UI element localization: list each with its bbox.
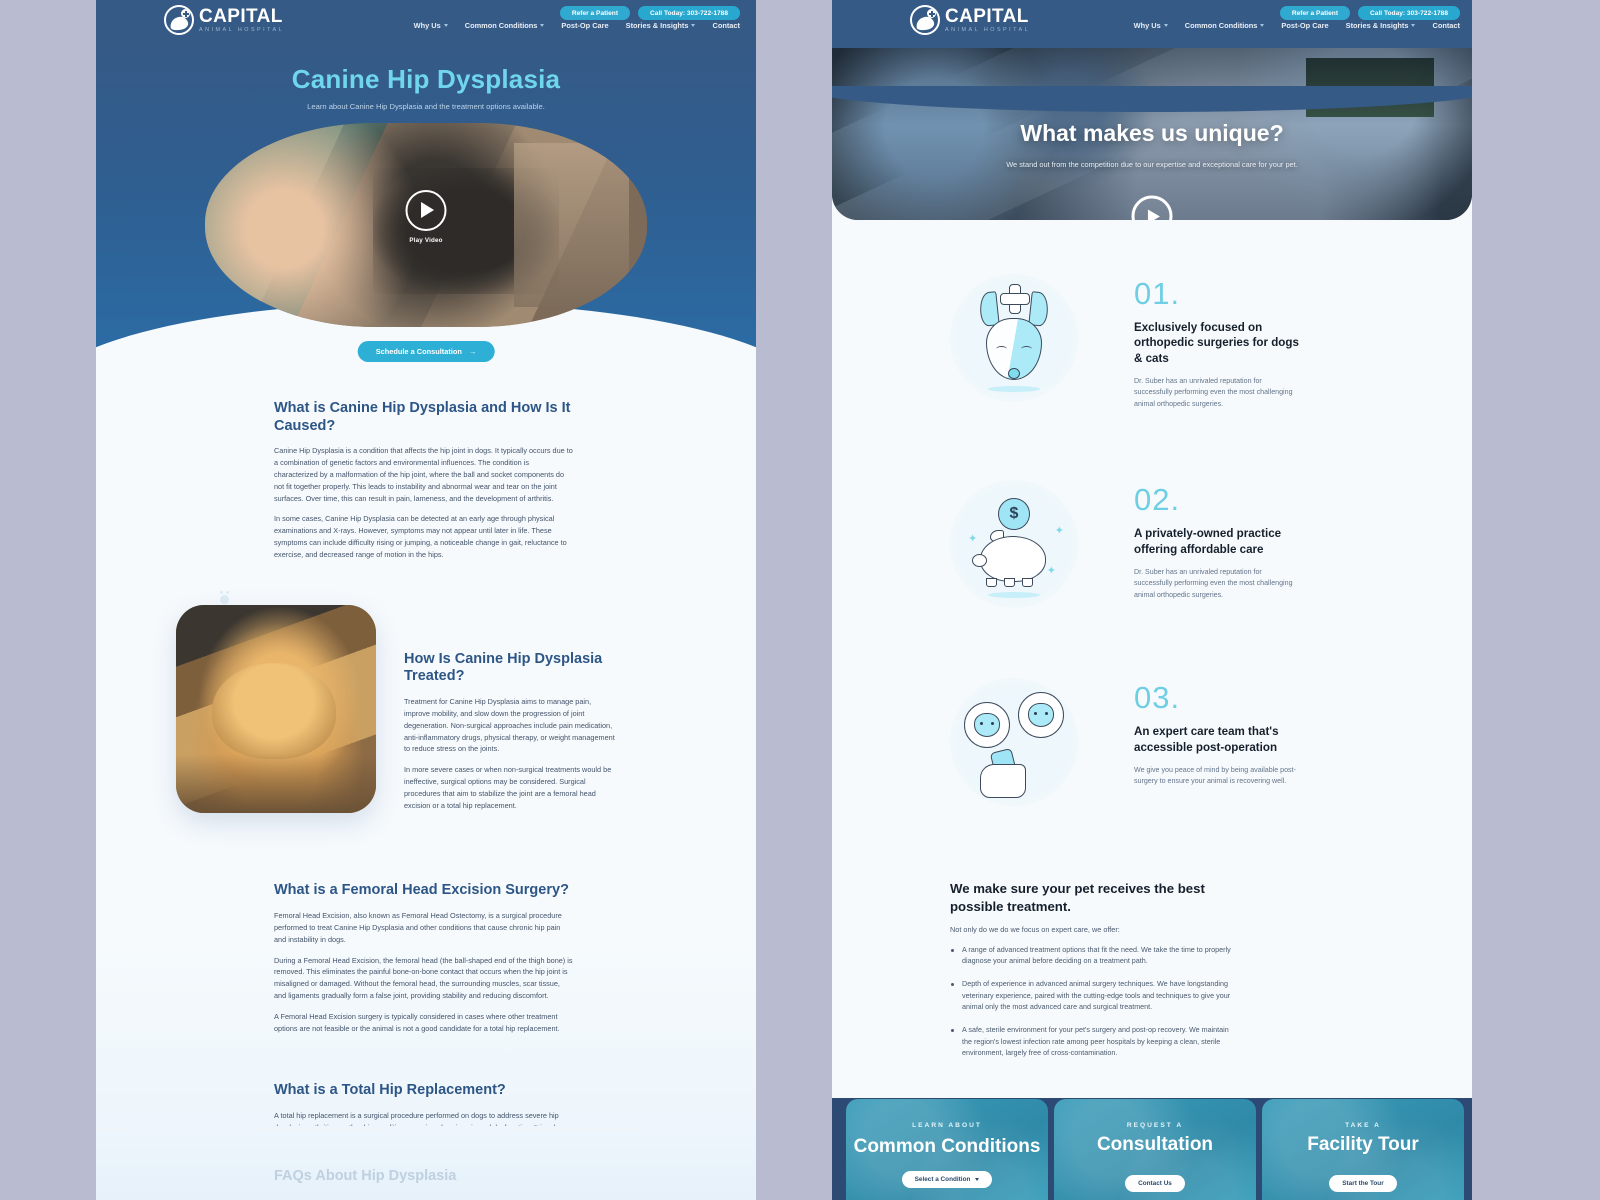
right-features-body: 01. Exclusively focused on orthopedic su… (832, 220, 1472, 1200)
nav-item-common-conditions[interactable]: Common Conditions (465, 21, 545, 30)
dollar-coin-icon: $ (998, 498, 1030, 530)
cta-card-facility-tour[interactable]: TAKE A Facility Tour Start the Tour (1262, 1099, 1464, 1200)
cta-kicker: REQUEST A (1054, 1122, 1256, 1129)
feature-body: Dr. Suber has an unrivaled reputation fo… (1134, 376, 1299, 410)
treatment-bullet: Depth of experience in advanced animal s… (950, 978, 1240, 1013)
left-hero: Canine Hip Dysplasia Learn about Canine … (96, 48, 756, 348)
treatment-heading: We make sure your pet receives the best … (950, 880, 1250, 914)
logo-wordmark: CAPITAL (945, 7, 1030, 26)
cta-card-row: LEARN ABOUT Common Conditions Select a C… (846, 1099, 1464, 1200)
feature-item: $ ✦ ✦ ✦ 02. A privately-owned practice o… (832, 484, 1472, 608)
cta-button-label: Start the Tour (1342, 1180, 1383, 1187)
start-the-tour-button[interactable]: Start the Tour (1329, 1175, 1396, 1192)
section-paragraph: Treatment for Canine Hip Dysplasia aims … (404, 696, 619, 755)
feature-body: We give you peace of mind by being avail… (1134, 765, 1299, 788)
select-a-condition-button[interactable]: Select a Condition (902, 1171, 993, 1188)
chevron-down-icon (1411, 24, 1415, 27)
schedule-consultation-label: Schedule a Consultation (376, 347, 462, 356)
feature-item: 03. An expert care team that's accessibl… (832, 682, 1472, 806)
page-title: Canine Hip Dysplasia (96, 64, 756, 95)
section-what-is-hip-dysplasia: What is Canine Hip Dysplasia and How Is … (274, 400, 574, 561)
dog-bubble-icon (1018, 692, 1064, 738)
nav-item-post-op-care[interactable]: Post-Op Care (1281, 21, 1328, 30)
nav-item-stories-insights[interactable]: Stories & Insights (1346, 21, 1416, 30)
chevron-down-icon (1164, 24, 1168, 27)
cta-title: Facility Tour (1262, 1135, 1464, 1155)
cta-kicker: LEARN ABOUT (846, 1122, 1048, 1129)
cta-button-label: Contact Us (1138, 1180, 1172, 1187)
feature-body: Dr. Suber has an unrivaled reputation fo… (1134, 567, 1299, 601)
section-paragraph: A Femoral Head Excision surgery is typic… (274, 1011, 574, 1035)
nav-item-why-us[interactable]: Why Us (1134, 21, 1168, 30)
cta-title: Common Conditions (846, 1137, 1048, 1157)
section-how-is-it-treated: How Is Canine Hip Dysplasia Treated? Tre… (96, 605, 756, 821)
phone-with-pet-bubbles-icon (950, 678, 1078, 806)
feature-heading: Exclusively focused on orthopedic surger… (1134, 320, 1299, 366)
cta-title: Consultation (1054, 1135, 1256, 1155)
feature-item: 01. Exclusively focused on orthopedic su… (832, 278, 1472, 410)
section-femoral-head-excision: What is a Femoral Head Excision Surgery?… (274, 882, 574, 1034)
page-subtitle: Learn about Canine Hip Dysplasia and the… (96, 102, 756, 111)
medical-cross-icon (1000, 284, 1028, 312)
section-paragraph: During a Femoral Head Excision, the femo… (274, 955, 574, 1002)
dog-photo-image (176, 605, 376, 813)
treatment-bullet-list: A range of advanced treatment options th… (950, 944, 1252, 1059)
section-paragraph: Canine Hip Dysplasia is a condition that… (274, 445, 574, 504)
site-logo[interactable]: CAPITAL ANIMAL HOSPITAL (164, 5, 284, 35)
nav-item-why-us[interactable]: Why Us (414, 21, 448, 30)
logo-tagline: ANIMAL HOSPITAL (199, 28, 284, 33)
refer-a-patient-pill[interactable]: Refer a Patient (560, 6, 630, 20)
hero-video-thumbnail[interactable]: Play Video (205, 123, 647, 327)
nav-item-contact[interactable]: Contact (1432, 21, 1460, 30)
hand-icon (980, 764, 1026, 798)
call-today-pill[interactable]: Call Today: 303-722-1788 (1358, 6, 1460, 20)
site-header: CAPITAL ANIMAL HOSPITAL Refer a Patient … (832, 0, 1472, 48)
feature-number: 02. (1134, 484, 1299, 515)
cta-kicker: TAKE A (1262, 1122, 1464, 1129)
nav-item-stories-insights[interactable]: Stories & Insights (626, 21, 696, 30)
primary-navigation: Why Us Common Conditions Post-Op Care St… (1134, 21, 1460, 30)
schedule-consultation-button[interactable]: Schedule a Consultation → (358, 341, 495, 362)
cta-card-consultation[interactable]: REQUEST A Consultation Contact Us (1054, 1099, 1256, 1200)
capital-paw-logo-icon (910, 5, 940, 35)
nav-item-post-op-care[interactable]: Post-Op Care (561, 21, 608, 30)
chevron-down-icon (444, 24, 448, 27)
page-title: What makes us unique? (832, 120, 1472, 147)
section-heading: How Is Canine Hip Dysplasia Treated? (404, 651, 619, 686)
chevron-down-icon (540, 24, 544, 27)
play-video-button[interactable]: Play Video (406, 190, 447, 244)
treatment-section: We make sure your pet receives the best … (832, 880, 1252, 1059)
call-today-pill[interactable]: Call Today: 303-722-1788 (638, 6, 740, 20)
section-paragraph: Femoral Head Excision, also known as Fem… (274, 910, 574, 945)
right-page-panel: CAPITAL ANIMAL HOSPITAL Refer a Patient … (832, 0, 1472, 1200)
cta-card-common-conditions[interactable]: LEARN ABOUT Common Conditions Select a C… (846, 1099, 1048, 1200)
logo-tagline: ANIMAL HOSPITAL (945, 28, 1030, 33)
contact-us-button[interactable]: Contact Us (1125, 1175, 1185, 1192)
section-heading: What is Canine Hip Dysplasia and How Is … (274, 400, 574, 435)
right-hero: What makes us unique? We stand out from … (832, 48, 1472, 220)
page-subtitle: We stand out from the competition due to… (832, 160, 1472, 169)
feature-number: 01. (1134, 278, 1299, 309)
golden-retriever-photo (176, 605, 376, 813)
treatment-lead: Not only do we do we focus on expert car… (950, 925, 1252, 934)
site-header: CAPITAL ANIMAL HOSPITAL Refer a Patient … (96, 0, 756, 48)
nav-item-contact[interactable]: Contact (712, 21, 740, 30)
cta-button-label: Select a Condition (915, 1176, 971, 1183)
feature-number: 03. (1134, 682, 1299, 713)
piggy-bank-with-coin-icon: $ ✦ ✦ ✦ (950, 480, 1078, 608)
section-heading: What is a Total Hip Replacement? (274, 1082, 574, 1100)
header-action-pills: Refer a Patient Call Today: 303-722-1788 (1280, 6, 1460, 20)
plus-icon (183, 11, 189, 17)
header-action-pills: Refer a Patient Call Today: 303-722-1788 (560, 6, 740, 20)
cta-card-band: LEARN ABOUT Common Conditions Select a C… (832, 1085, 1472, 1200)
capital-paw-logo-icon (164, 5, 194, 35)
dog-with-medical-cross-icon (950, 274, 1078, 402)
left-article-body: What is Canine Hip Dysplasia and How Is … (96, 348, 756, 1190)
section-heading: What is a Femoral Head Excision Surgery? (274, 882, 574, 900)
plus-icon (929, 11, 935, 17)
refer-a-patient-pill[interactable]: Refer a Patient (1280, 6, 1350, 20)
chevron-down-icon (1260, 24, 1264, 27)
site-logo[interactable]: CAPITAL ANIMAL HOSPITAL (910, 5, 1030, 35)
primary-navigation: Why Us Common Conditions Post-Op Care St… (414, 21, 740, 30)
play-video-label: Play Video (406, 237, 447, 244)
section-paragraph: In more severe cases or when non-surgica… (404, 764, 619, 811)
chevron-down-icon (975, 1178, 979, 1181)
faq-section-teaser: FAQs About Hip Dysplasia (96, 1126, 756, 1200)
feature-heading: A privately-owned practice offering affo… (1134, 526, 1299, 557)
chevron-down-icon (691, 24, 695, 27)
left-page-panel: CAPITAL ANIMAL HOSPITAL Refer a Patient … (96, 0, 756, 1200)
play-icon (406, 190, 447, 231)
faq-heading: FAQs About Hip Dysplasia (274, 1168, 756, 1184)
screenshot-stage: CAPITAL ANIMAL HOSPITAL Refer a Patient … (0, 0, 1600, 1200)
treatment-bullet: A range of advanced treatment options th… (950, 944, 1240, 967)
logo-wordmark: CAPITAL (199, 7, 284, 26)
feature-heading: An expert care team that's accessible po… (1134, 724, 1299, 755)
arrow-right-icon: → (469, 347, 476, 356)
cat-bubble-icon (964, 702, 1010, 748)
treatment-bullet: A safe, sterile environment for your pet… (950, 1024, 1240, 1059)
section-paragraph: In some cases, Canine Hip Dysplasia can … (274, 513, 574, 560)
nav-item-common-conditions[interactable]: Common Conditions (1185, 21, 1265, 30)
